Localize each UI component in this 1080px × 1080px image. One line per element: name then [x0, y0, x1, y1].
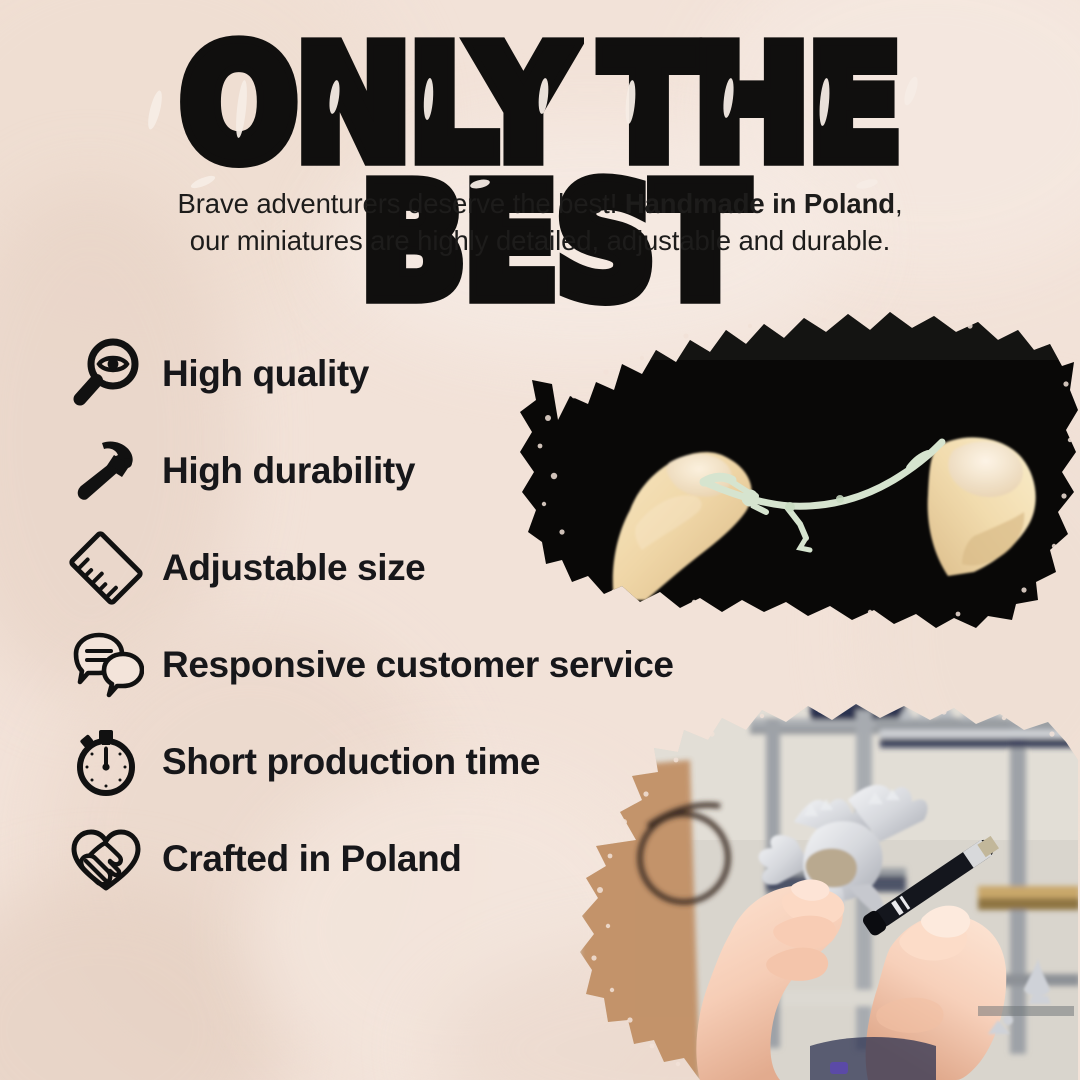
- feature-list: High quality High durability: [64, 325, 784, 907]
- feature-item-adjustable-size: Adjustable size: [64, 519, 784, 616]
- page-title: ONLY THE BEST: [0, 28, 1080, 304]
- hammer-icon: [64, 429, 148, 513]
- handshake-heart-icon: [64, 817, 148, 901]
- ruler-icon: [64, 526, 148, 610]
- speech-bubbles-icon: [64, 623, 148, 707]
- subtitle-line-1: Brave adventurers deserve the best! Hand…: [0, 186, 1080, 223]
- feature-label: Adjustable size: [162, 547, 425, 589]
- feature-label: Crafted in Poland: [162, 838, 462, 880]
- feature-label: Short production time: [162, 741, 540, 783]
- feature-item-high-quality: High quality: [64, 325, 784, 422]
- subtitle-line-2: our miniatures are highly detailed, adju…: [0, 223, 1080, 260]
- feature-label: High quality: [162, 353, 369, 395]
- feature-item-crafted-in-poland: Crafted in Poland: [64, 810, 784, 907]
- feature-label: High durability: [162, 450, 415, 492]
- subtitle: Brave adventurers deserve the best! Hand…: [0, 186, 1080, 259]
- headline-gloss-9: [902, 75, 921, 107]
- subtitle-lead: Brave adventurers deserve the best!: [177, 188, 624, 219]
- feature-item-responsive-customer-service: Responsive customer service: [64, 616, 784, 713]
- feature-item-high-durability: High durability: [64, 422, 784, 519]
- feature-item-short-production-time: Short production time: [64, 713, 784, 810]
- subtitle-bold: Handmade in Poland: [625, 188, 895, 219]
- feature-label: Responsive customer service: [162, 644, 674, 686]
- subtitle-tail: ,: [895, 188, 903, 219]
- stopwatch-icon: [64, 720, 148, 804]
- magnifier-eye-icon: [64, 332, 148, 416]
- headline-gloss-1: [145, 89, 164, 130]
